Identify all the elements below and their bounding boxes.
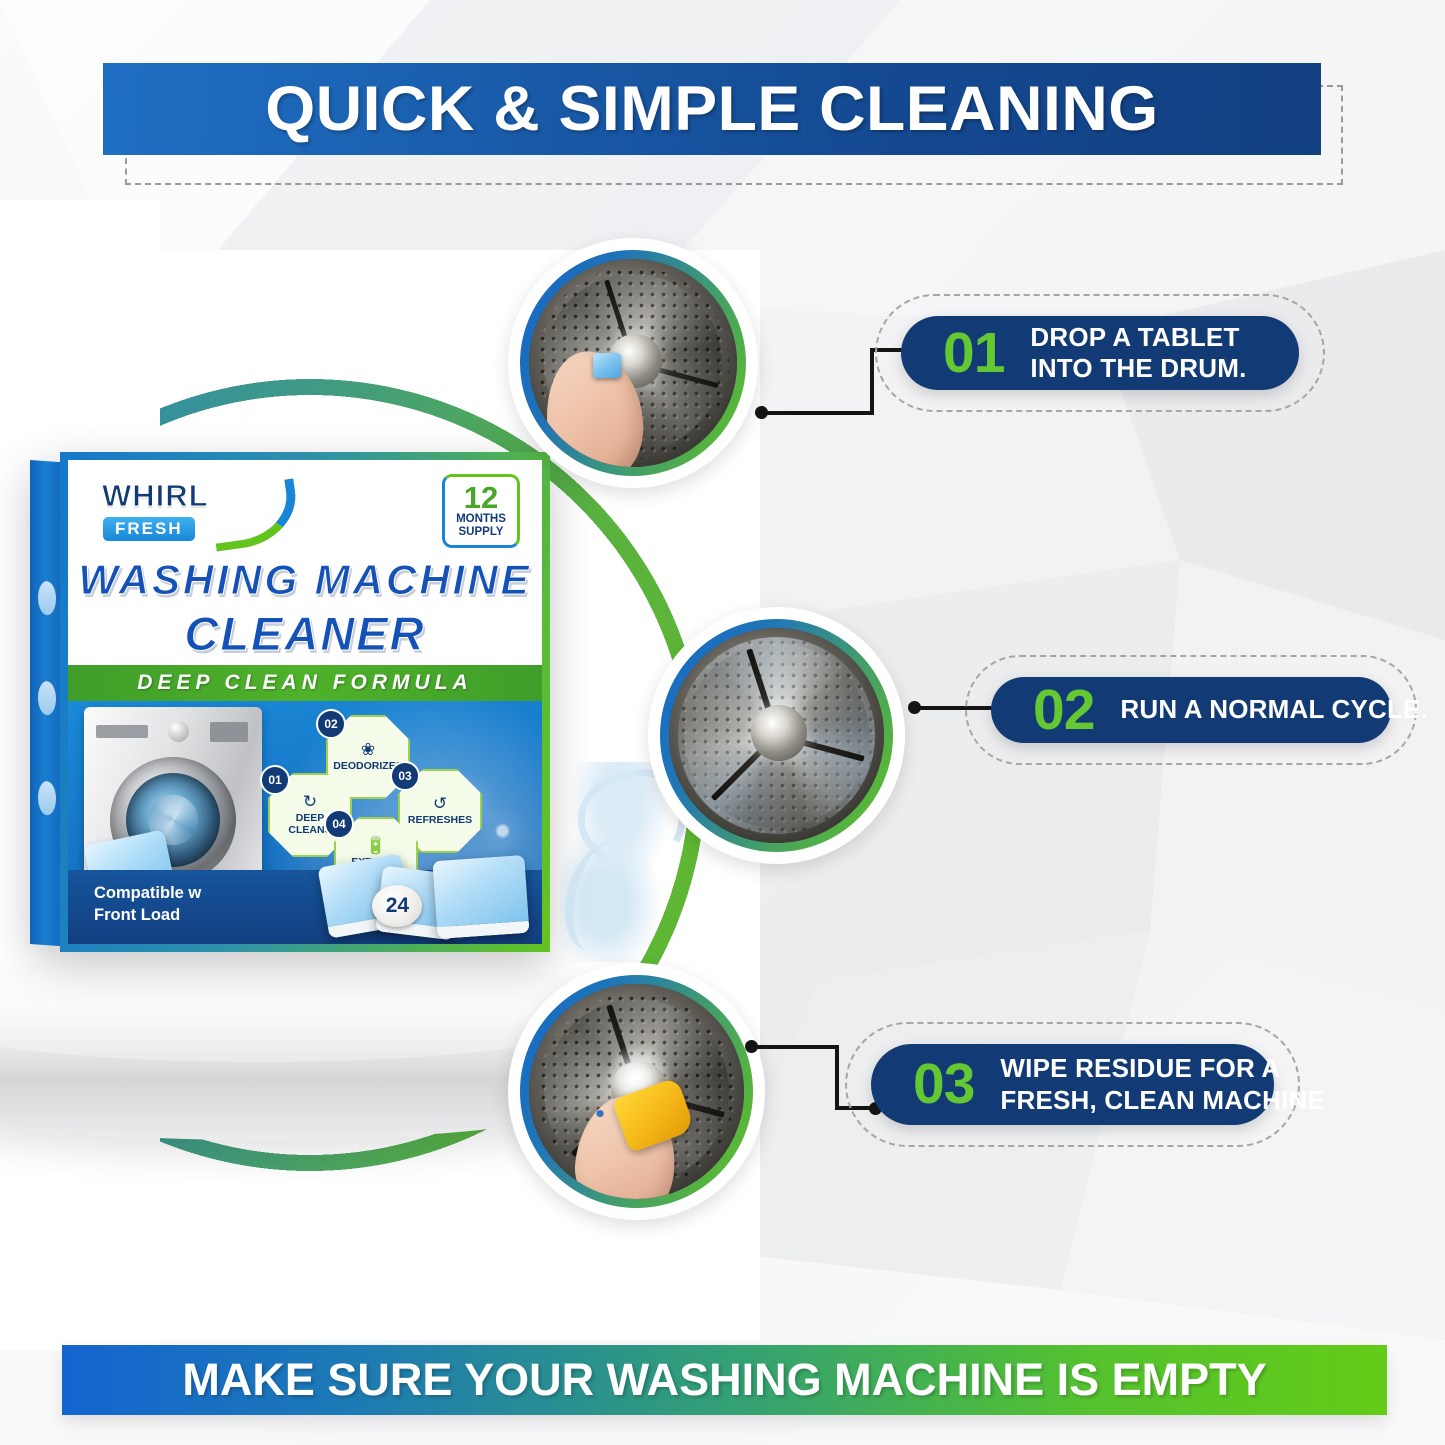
step-1-line-2: INTO THE DRUM. bbox=[1030, 353, 1246, 384]
step-image-3-photo bbox=[529, 984, 744, 1199]
supply-badge-number: 12 bbox=[464, 483, 498, 512]
brand-swoosh-icon bbox=[208, 478, 302, 551]
feature-hex-3-label: REFRESHES bbox=[408, 815, 472, 827]
step-3-number: 03 bbox=[913, 1056, 974, 1113]
step-image-2-ring bbox=[660, 619, 893, 852]
compatibility-text: Compatible w Front Load bbox=[94, 882, 201, 927]
washing-machine-detergent-drawer bbox=[210, 722, 248, 742]
header-banner: QUICK & SIMPLE CLEANING bbox=[103, 63, 1321, 163]
washing-machine-display bbox=[96, 725, 148, 738]
step-1-line-1: DROP A TABLET bbox=[1030, 322, 1246, 353]
compatibility-line1: Compatible w bbox=[94, 882, 201, 904]
connector-3-seg-vertical bbox=[835, 1045, 839, 1110]
step-1-text: DROP A TABLET INTO THE DRUM. bbox=[1030, 322, 1246, 384]
step-3-text: WIPE RESIDUE FOR A FRESH, CLEAN MACHINE bbox=[1000, 1053, 1325, 1115]
connector-1-seg-bottom bbox=[761, 411, 874, 415]
step-image-3 bbox=[508, 963, 765, 1220]
product-title-line1: WASHING MACHINE bbox=[68, 556, 542, 604]
feature-hex-4-number: 04 bbox=[324, 809, 354, 839]
formula-band: DEEP CLEAN FORMULA bbox=[68, 665, 542, 701]
washing-machine-knob-icon bbox=[168, 721, 189, 742]
tablet-in-hand-icon bbox=[593, 353, 620, 378]
step-image-1-photo bbox=[529, 259, 737, 467]
feature-hex-2-number: 02 bbox=[316, 709, 346, 739]
tablet-3 bbox=[432, 855, 529, 939]
nail-1 bbox=[596, 1110, 604, 1117]
feature-hex-3-number: 03 bbox=[390, 761, 420, 791]
footer-banner: MAKE SURE YOUR WASHING MACHINE IS EMPTY bbox=[62, 1345, 1387, 1415]
step-card-3[interactable]: 03 WIPE RESIDUE FOR A FRESH, CLEAN MACHI… bbox=[845, 1022, 1300, 1147]
step-image-1-ring bbox=[520, 250, 746, 476]
step-image-2-photo bbox=[669, 628, 884, 843]
connector-3-seg-top bbox=[751, 1045, 839, 1049]
supply-badge: 12 MONTHS SUPPLY bbox=[442, 474, 520, 548]
spine-icon-1 bbox=[38, 581, 56, 616]
product-box: WHIRL FRESH 12 MONTHS SUPPLY WASHING MAC… bbox=[30, 452, 550, 952]
spine-icon-3 bbox=[38, 781, 56, 816]
product-box-front: WHIRL FRESH 12 MONTHS SUPPLY WASHING MAC… bbox=[60, 452, 550, 952]
footer-text: MAKE SURE YOUR WASHING MACHINE IS EMPTY bbox=[182, 1354, 1266, 1406]
step-2-line-1: RUN A NORMAL CYCLE. bbox=[1120, 694, 1428, 725]
battery-icon: 🔋 bbox=[365, 837, 386, 854]
step-2-text: RUN A NORMAL CYCLE. bbox=[1120, 694, 1428, 725]
page-title: QUICK & SIMPLE CLEANING bbox=[265, 73, 1159, 145]
front-tablets-illustration bbox=[323, 854, 533, 944]
supply-badge-line1: MONTHS bbox=[456, 513, 506, 526]
product-box-lower-panel: ❀ DEODORIZES 02 ↻ DEEP CLEANS 01 ↺ REFRE… bbox=[68, 701, 542, 944]
step-card-3-pill[interactable]: 03 WIPE RESIDUE FOR A FRESH, CLEAN MACHI… bbox=[871, 1044, 1274, 1125]
refresh-arrows-icon: ↻ bbox=[303, 793, 317, 810]
brand-logo: WHIRL FRESH bbox=[102, 478, 292, 542]
brand-name-secondary: FRESH bbox=[102, 516, 196, 542]
formula-band-text: DEEP CLEAN FORMULA bbox=[137, 671, 472, 695]
step-card-1[interactable]: 01 DROP A TABLET INTO THE DRUM. bbox=[875, 294, 1325, 412]
feature-hex-1-number: 01 bbox=[260, 765, 290, 795]
step-card-2-pill[interactable]: 02 RUN A NORMAL CYCLE. bbox=[991, 677, 1391, 743]
step-card-1-pill[interactable]: 01 DROP A TABLET INTO THE DRUM. bbox=[901, 316, 1299, 390]
header-bar: QUICK & SIMPLE CLEANING bbox=[103, 63, 1321, 155]
product-title-line2: CLEANER bbox=[68, 606, 542, 661]
product-title: WASHING MACHINE CLEANER bbox=[68, 556, 542, 661]
step-3-line-2: FRESH, CLEAN MACHINE bbox=[1000, 1085, 1325, 1116]
step-3-line-1: WIPE RESIDUE FOR A bbox=[1000, 1053, 1325, 1084]
compatibility-line2: Front Load bbox=[94, 904, 201, 926]
washing-machine-control-panel bbox=[92, 717, 254, 747]
step-image-1 bbox=[508, 238, 758, 488]
step-image-3-ring bbox=[520, 975, 753, 1208]
connector-1-seg-vertical bbox=[870, 348, 874, 415]
step-card-2[interactable]: 02 RUN A NORMAL CYCLE. bbox=[965, 655, 1417, 765]
circular-arrow-icon: ↺ bbox=[433, 795, 447, 812]
flower-icon: ❀ bbox=[361, 741, 375, 758]
drum-hub-2 bbox=[751, 705, 807, 761]
step-2-number: 02 bbox=[1033, 682, 1094, 739]
product-box-spine bbox=[30, 460, 64, 946]
step-image-2 bbox=[648, 607, 905, 864]
supply-badge-line2: SUPPLY bbox=[459, 526, 504, 539]
step-1-number: 01 bbox=[943, 325, 1004, 382]
spine-icon-2 bbox=[38, 681, 56, 716]
